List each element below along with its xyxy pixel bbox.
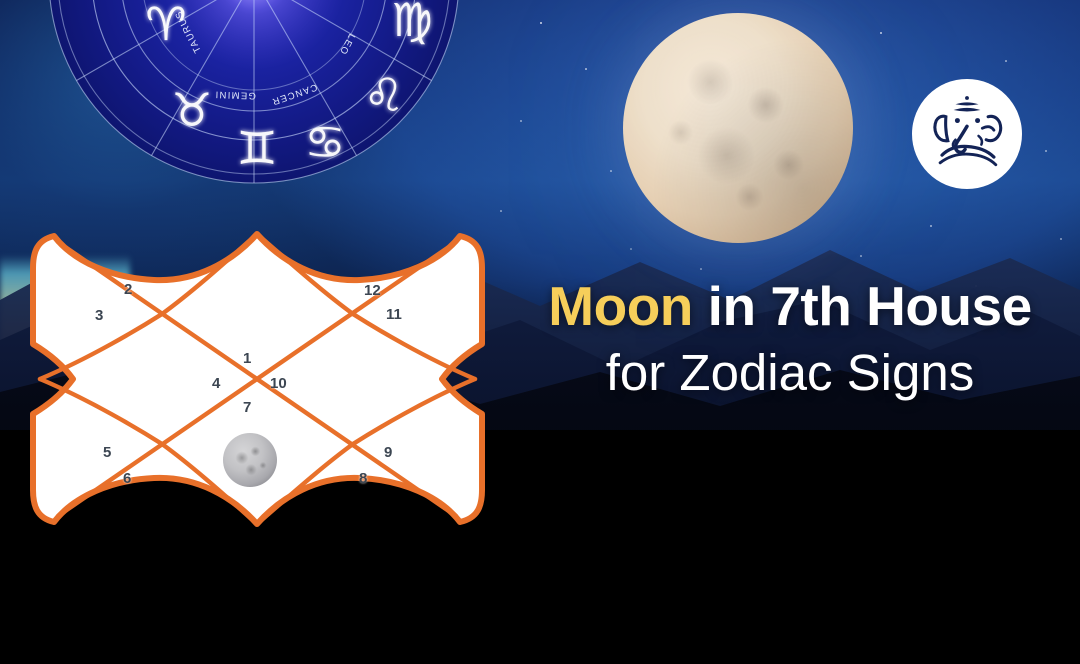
zodiac-glyph-cancer: ♋ — [304, 115, 345, 169]
house-number-8: 8 — [359, 470, 367, 487]
house-number-7: 7 — [243, 399, 251, 416]
house-number-2: 2 — [124, 281, 132, 298]
zodiac-glyph-leo: ♌ — [363, 68, 404, 122]
title-block: Moon in 7th House for Zodiac Signs — [500, 278, 1080, 400]
zodiac-glyph-gemini: ♊ — [236, 121, 277, 175]
page-subtitle: for Zodiac Signs — [500, 346, 1080, 400]
house-number-3: 3 — [95, 307, 103, 324]
moon-planet-marker — [223, 433, 277, 487]
house-number-1: 1 — [243, 350, 251, 367]
house-number-11: 11 — [386, 306, 402, 323]
banner-root: ARIES TAURUS GEMINI CANCER LEO VIRGO ♈ ♉… — [0, 0, 1080, 664]
house-number-6: 6 — [123, 470, 131, 487]
house-number-5: 5 — [103, 444, 111, 461]
zodiac-wheel: ARIES TAURUS GEMINI CANCER LEO VIRGO ♈ ♉… — [44, 0, 464, 188]
title-rest: in 7th House — [693, 275, 1032, 337]
page-title: Moon in 7th House — [500, 278, 1080, 334]
ganesha-logo-icon — [919, 86, 1015, 182]
house-number-4: 4 — [212, 375, 220, 392]
house-number-9: 9 — [384, 444, 392, 461]
house-number-10: 10 — [270, 375, 287, 392]
zodiac-label-gemini: GEMINI — [214, 89, 256, 101]
ganesha-logo[interactable] — [912, 79, 1022, 189]
house-number-12: 12 — [364, 282, 381, 299]
zodiac-glyph-taurus: ♉ — [171, 83, 212, 137]
title-accent-word: Moon — [548, 275, 693, 337]
full-moon-image — [623, 13, 853, 243]
zodiac-glyph-virgo: ♍ — [391, 0, 432, 47]
zodiac-glyph-aries: ♈ — [145, 0, 186, 51]
